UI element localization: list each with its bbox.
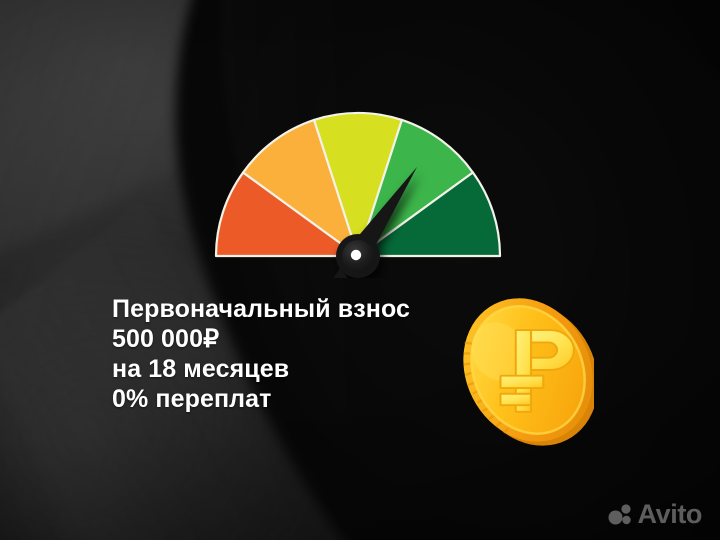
- advertisement-image: Первоначальный взнос 500 000₽ на 18 меся…: [0, 0, 720, 540]
- ad-copy-block: Первоначальный взнос 500 000₽ на 18 меся…: [112, 294, 492, 414]
- copy-line-overpayment: 0% переплат: [112, 384, 492, 414]
- coin-body: [462, 288, 594, 450]
- copy-line-downpayment-amount: 500 000₽: [112, 324, 492, 354]
- avito-watermark: Avito: [608, 501, 703, 528]
- copy-line-term: на 18 месяцев: [112, 354, 492, 384]
- copy-line-downpayment-label: Первоначальный взнос: [112, 294, 492, 324]
- avito-dots-icon: [608, 504, 632, 526]
- gauge-hub-center-dot: [351, 250, 361, 260]
- credit-rating-gauge: [206, 100, 510, 278]
- ruble-coin-svg: [462, 288, 594, 450]
- ruble-coin: [462, 288, 594, 450]
- gauge-svg: [206, 100, 510, 278]
- avito-wordmark: Avito: [638, 501, 703, 528]
